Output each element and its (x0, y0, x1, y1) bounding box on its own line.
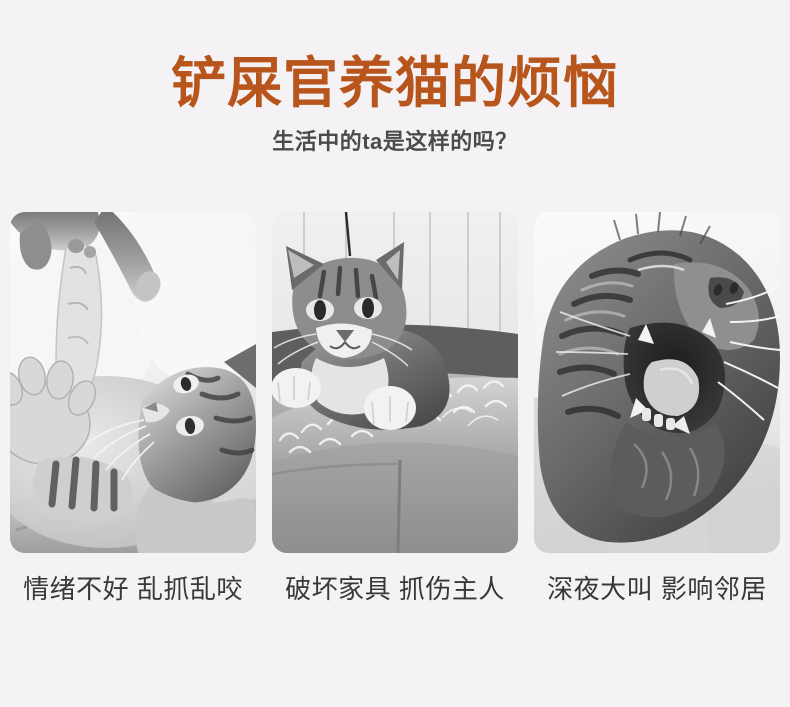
photo-card-2[interactable] (272, 212, 518, 553)
promo-banner: 铲屎官养猫的烦恼 生活中的ta是这样的吗？ (0, 0, 790, 707)
caption-row: 情绪不好 乱抓乱咬 破坏家具 抓伤主人 深夜大叫 影响邻居 (10, 567, 780, 611)
cat-yawning-meowing-icon (534, 212, 780, 553)
photo-caption-2: 破坏家具 抓伤主人 (272, 572, 518, 606)
photo-card-3[interactable] (534, 212, 780, 553)
photo-caption-1: 情绪不好 乱抓乱咬 (10, 572, 256, 606)
photo-caption-3: 深夜大叫 影响邻居 (534, 572, 780, 606)
page-title: 铲屎官养猫的烦恼 (0, 52, 790, 116)
cat-lying-on-back-with-finger-icon (10, 212, 256, 553)
photo-gallery (10, 212, 780, 553)
cat-scratching-sofa-icon (272, 212, 518, 553)
photo-card-1[interactable] (10, 212, 256, 553)
page-subtitle: 生活中的ta是这样的吗？ (0, 127, 790, 157)
